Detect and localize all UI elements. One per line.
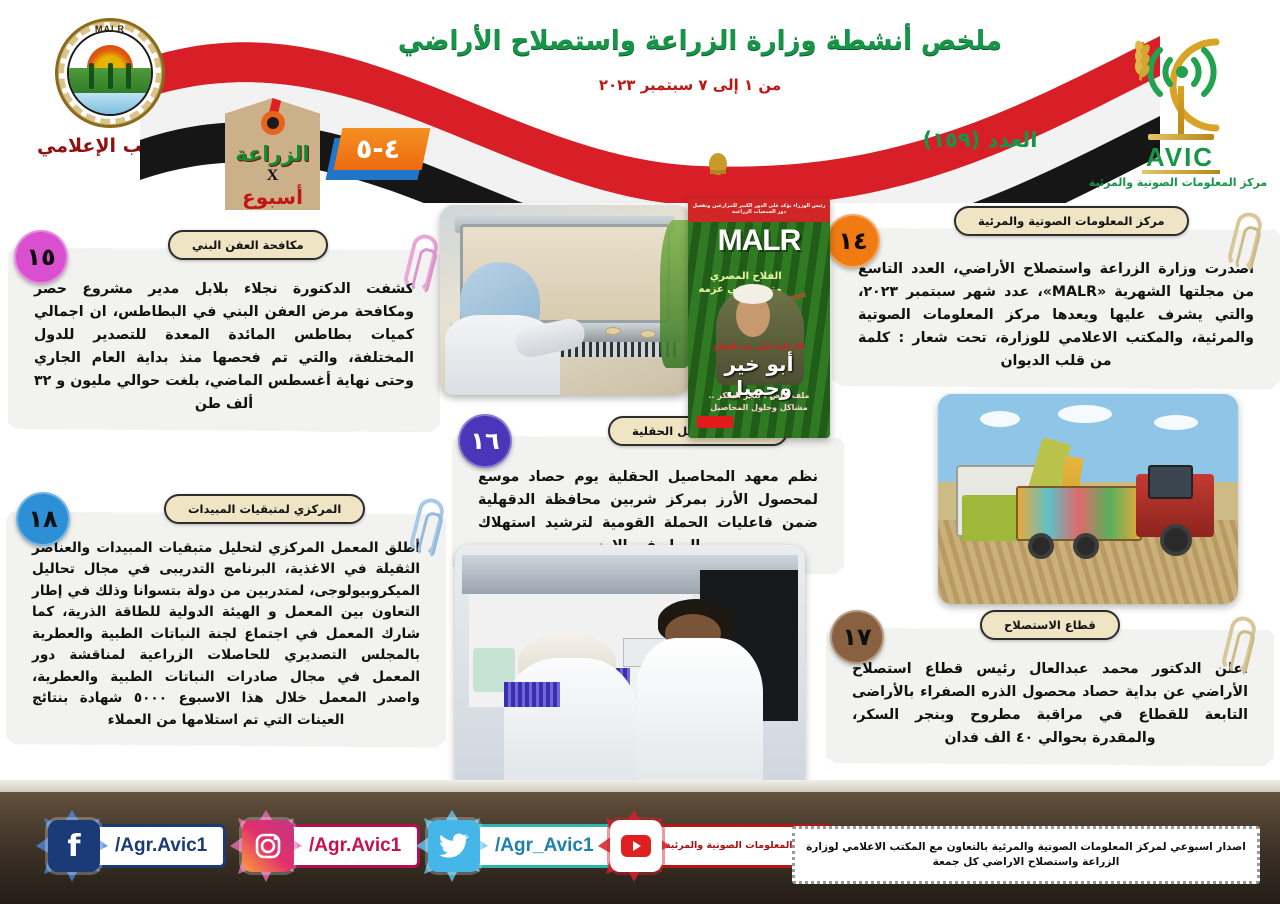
news-card-15: ١٥ مكافحة العفن البني كشفت الدكتورة نجلا… bbox=[8, 248, 440, 432]
emblem-water bbox=[69, 93, 151, 114]
facebook-handle-text: /Agr.Avic1 bbox=[115, 835, 207, 857]
emblem-plant bbox=[89, 63, 94, 89]
social-link-facebook[interactable]: f /Agr.Avic1 bbox=[48, 820, 226, 872]
news-card-paper: أطلق المعمل المركزي لتحليل متبقيات المبي… bbox=[6, 512, 446, 747]
magazine-subject-age: ٨٧ عاما علي عبد الفتاح bbox=[694, 342, 825, 351]
news-card-17: ١٧ قطاع الاستصلاح اعلن الدكتور محمد عبدا… bbox=[826, 628, 1274, 766]
news-category-chip: مكافحة العفن البني bbox=[168, 230, 328, 260]
news-category-chip: المركزي لمتبقيات المبيدات bbox=[164, 494, 365, 524]
wheel bbox=[1073, 533, 1099, 559]
footer-note-box: اصدار اسبوعي لمركز المعلومات الصوتية وال… bbox=[792, 826, 1260, 884]
tube-rack bbox=[504, 682, 560, 707]
emblem-inner-disc bbox=[67, 30, 153, 116]
wheel bbox=[1160, 524, 1192, 556]
farmer-cap bbox=[733, 284, 773, 303]
news-number-badge: ١٦ bbox=[458, 414, 512, 468]
instagram-icon[interactable] bbox=[242, 820, 294, 872]
photo-harvest-field bbox=[938, 394, 1238, 604]
page-range-text: ٤-٥ bbox=[330, 128, 426, 170]
poster-header: MALR المكتب الإعلامي الزراعة X أسبوع ٤-٥… bbox=[0, 0, 1280, 205]
painted-trailer bbox=[1016, 486, 1142, 541]
magazine-cover-content: رئيس الوزراء يؤكد على الدور الكبير للمزا… bbox=[688, 198, 830, 438]
news-card-14: ١٤ مركز المعلومات الصوتية والمرئية أصدرت… bbox=[832, 228, 1280, 389]
news-number-badge: ١٧ bbox=[830, 610, 884, 664]
youtube-icon[interactable] bbox=[610, 820, 662, 872]
avic-stem bbox=[1178, 86, 1184, 138]
footer-top-stripe bbox=[0, 780, 1280, 792]
photo-content bbox=[455, 545, 805, 790]
news-category-chip: مركز المعلومات الصوتية والمرئية bbox=[954, 206, 1189, 236]
news-card-paper: كشفت الدكتورة نجلاء بلابل مدير مشروع حصر… bbox=[8, 248, 440, 432]
photo-malr-magazine-cover: رئيس الوزراء يؤكد على الدور الكبير للمزا… bbox=[688, 198, 830, 438]
issue-number: العدد (١٥٩) bbox=[880, 128, 1080, 152]
emblem-malr-text: MALR bbox=[55, 24, 165, 34]
social-link-instagram[interactable]: /Agr.Avic1 bbox=[242, 820, 420, 872]
news-card-18: ١٨ المركزي لمتبقيات المبيدات أطلق المعمل… bbox=[6, 512, 446, 747]
facebook-handle-plate[interactable]: /Agr.Avic1 bbox=[90, 824, 226, 868]
wheel bbox=[1028, 533, 1054, 559]
researcher-lab-coat bbox=[637, 638, 763, 790]
instagram-handle-text: /Agr.Avic1 bbox=[309, 835, 401, 857]
twitter-icon[interactable] bbox=[428, 820, 480, 872]
tag-hole bbox=[261, 111, 285, 135]
petri-dish bbox=[605, 327, 621, 335]
news-card-text: أطلق المعمل المركزي لتحليل متبقيات المبي… bbox=[32, 538, 420, 731]
news-number-badge: ١٥ bbox=[14, 230, 68, 284]
avic-underline bbox=[1142, 170, 1220, 174]
avic-wordmark: AVIC bbox=[1120, 142, 1240, 173]
twitter-handle-plate[interactable]: /Agr_Avic1 bbox=[470, 824, 613, 868]
emblem-plant bbox=[126, 63, 131, 89]
photo-content bbox=[440, 205, 690, 395]
magazine-top-banner: رئيس الوزراء يؤكد على الدور الكبير للمزا… bbox=[688, 198, 830, 222]
plant-foliage bbox=[660, 220, 690, 368]
tractor-cabin bbox=[1148, 465, 1193, 499]
tag-line-1: الزراعة bbox=[225, 142, 320, 166]
news-category-chip: قطاع الاستصلاح bbox=[980, 610, 1120, 640]
photo-content bbox=[938, 394, 1238, 604]
page-range-badge: ٤-٥ bbox=[330, 128, 422, 180]
footer-note-text: اصدار اسبوعي لمركز المعلومات الصوتية وال… bbox=[805, 840, 1247, 869]
cloud bbox=[1154, 415, 1198, 430]
news-card-paper: أصدرت وزارة الزراعة واستصلاح الأراضي، ال… bbox=[832, 228, 1280, 389]
news-number-badge: ١٤ bbox=[826, 214, 880, 268]
twitter-handle-text: /Agr_Avic1 bbox=[495, 835, 594, 857]
magazine-banner-text: رئيس الوزراء يؤكد على الدور الكبير للمزا… bbox=[688, 198, 830, 215]
magazine-masthead: MALR bbox=[705, 224, 813, 258]
instagram-glyph bbox=[253, 831, 283, 861]
emblem-plant bbox=[108, 63, 113, 89]
news-card-paper: اعلن الدكتور محمد عبدالعال رئيس قطاع است… bbox=[826, 628, 1274, 766]
malr-emblem-logo: MALR bbox=[55, 18, 165, 128]
magazine-footer-lines: ملف خاص : بنجر السكر .. مشاكل وحلول المح… bbox=[699, 390, 818, 414]
twitter-bird-glyph bbox=[439, 833, 469, 859]
social-link-twitter[interactable]: /Agr_Avic1 bbox=[428, 820, 613, 872]
avic-base bbox=[1148, 134, 1214, 140]
news-number-badge: ١٨ bbox=[16, 492, 70, 546]
date-range-subtitle: من ١ إلى ٧ سبتمبر ٢٠٢٣ bbox=[430, 76, 950, 94]
instagram-handle-plate[interactable]: /Agr.Avic1 bbox=[284, 824, 420, 868]
cloud bbox=[1058, 405, 1112, 423]
agriculture-week-tag: الزراعة X أسبوع bbox=[225, 98, 320, 210]
tag-line-3: أسبوع bbox=[225, 185, 320, 209]
news-card-text: أصدرت وزارة الزراعة واستصلاح الأراضي، ال… bbox=[858, 258, 1254, 373]
avic-caption: مركز المعلومات الصوتية والمرئية bbox=[1078, 176, 1278, 189]
magazine-barcode bbox=[697, 416, 733, 428]
facebook-icon[interactable]: f bbox=[48, 820, 100, 872]
photo-lab-hood-researcher bbox=[440, 205, 690, 395]
cloud bbox=[980, 411, 1020, 427]
page-title: ملخص أنشطة وزارة الزراعة واستصلاح الأراض… bbox=[380, 26, 1020, 56]
photo-microbiology-lab bbox=[455, 545, 805, 790]
avic-logo: AVIC bbox=[1120, 24, 1240, 174]
news-card-text: اعلن الدكتور محمد عبدالعال رئيس قطاع است… bbox=[852, 658, 1248, 750]
researcher-lab-coat bbox=[504, 658, 637, 790]
tag-line-2: X bbox=[225, 167, 320, 185]
poster-page: MALR المكتب الإعلامي الزراعة X أسبوع ٤-٥… bbox=[0, 0, 1280, 904]
news-card-text: كشفت الدكتورة نجلاء بلابل مدير مشروع حصر… bbox=[34, 278, 414, 416]
youtube-glyph bbox=[620, 834, 652, 858]
